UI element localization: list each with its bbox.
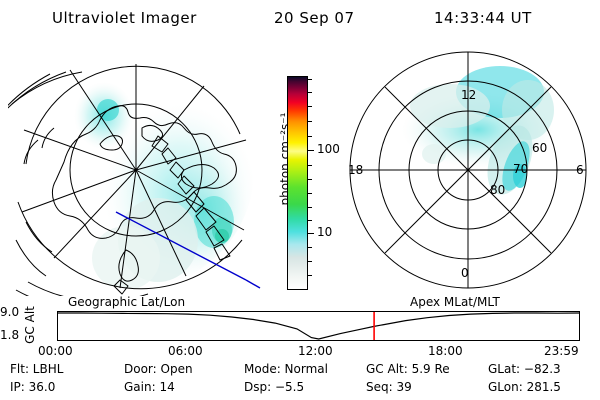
altitude-trace [58, 313, 579, 339]
geo-panel-title: Geographic Lat/Lon [68, 295, 185, 309]
colorbar-tick-100 [308, 150, 314, 151]
colorbar-minor-tick-8 [308, 207, 312, 208]
colorbar-tick-label-100: 100 [317, 142, 340, 156]
seq-status: Seq: 39 [366, 380, 412, 394]
colorbar-minor-tick-7 [308, 193, 312, 194]
colorbar-minor-tick-0 [308, 79, 312, 80]
strip-xtick-1: 06:00 [168, 344, 203, 358]
mlt-label-12: 12 [461, 88, 476, 102]
gc-alt-status: GC Alt: 5.9 Re [366, 362, 450, 376]
colorbar: photon cm⁻²s⁻¹ 10010 [268, 60, 354, 300]
lat-ring-label-80: 80 [490, 183, 505, 197]
lat-ring-label-70: 70 [513, 162, 528, 176]
geographic-map-svg [8, 44, 264, 296]
colorbar-tick-10 [308, 233, 314, 234]
observation-date: 20 Sep 07 [274, 9, 354, 27]
mlt-dial-panel[interactable]: 12 6 0 18 60 70 80 [344, 44, 594, 296]
mlt-label-6: 6 [576, 163, 584, 177]
mode-status: Mode: Normal [244, 362, 328, 376]
colorbar-minor-tick-6 [308, 179, 312, 180]
colorbar-minor-tick-4 [308, 136, 312, 137]
door-status: Door: Open [124, 362, 193, 376]
colorbar-minor-tick-11 [308, 261, 312, 262]
colorbar-minor-tick-2 [308, 106, 312, 107]
colorbar-minor-tick-12 [308, 275, 312, 276]
strip-chart-svg [58, 312, 579, 340]
dsp-status: Dsp: −5.5 [244, 380, 304, 394]
colorbar-gradient-box [287, 76, 308, 290]
filter-status: Flt: LBHL [10, 362, 63, 376]
colorbar-minor-tick-1 [308, 92, 312, 93]
strip-xtick-4: 23:59 [544, 344, 579, 358]
strip-xtick-2: 12:00 [298, 344, 333, 358]
gain-status: Gain: 14 [124, 380, 175, 394]
mlt-label-18: 18 [348, 163, 363, 177]
colorbar-minor-tick-3 [308, 121, 312, 122]
colorbar-tick-label-10: 10 [317, 225, 332, 239]
orbit-altitude-strip[interactable]: Geographic Lat/Lon Apex MLat/MLT GC Alt … [0, 296, 600, 356]
lat-ring-label-60: 60 [532, 141, 547, 155]
status-footer: Flt: LBHL IP: 36.0 Door: Open Gain: 14 M… [0, 360, 600, 400]
colorbar-minor-tick-10 [308, 247, 312, 248]
terminator-line-ext [246, 280, 260, 288]
colorbar-gradient [288, 77, 307, 289]
colorbar-minor-tick-5 [308, 165, 312, 166]
colorbar-minor-tick-9 [308, 220, 312, 221]
mlt-panel-title: Apex MLat/MLT [410, 295, 500, 309]
strip-xtick-3: 18:00 [428, 344, 463, 358]
ip-status: IP: 36.0 [10, 380, 55, 394]
strip-ytick-low: 1.8 [0, 328, 52, 342]
strip-xtick-0: 00:00 [38, 344, 73, 358]
mlt-dial-svg [344, 44, 594, 296]
instrument-title: Ultraviolet Imager [52, 9, 197, 27]
strip-ytick-high: 9.0 [0, 305, 52, 319]
observation-time: 14:33:44 UT [434, 9, 532, 27]
geographic-map-panel[interactable] [8, 44, 264, 296]
glon-status: GLon: 281.5 [488, 380, 561, 394]
strip-plot-box[interactable] [57, 311, 580, 341]
glat-status: GLat: −82.3 [488, 362, 561, 376]
header-bar: Ultraviolet Imager 20 Sep 07 14:33:44 UT [0, 4, 600, 30]
mlt-label-0: 0 [461, 266, 469, 280]
